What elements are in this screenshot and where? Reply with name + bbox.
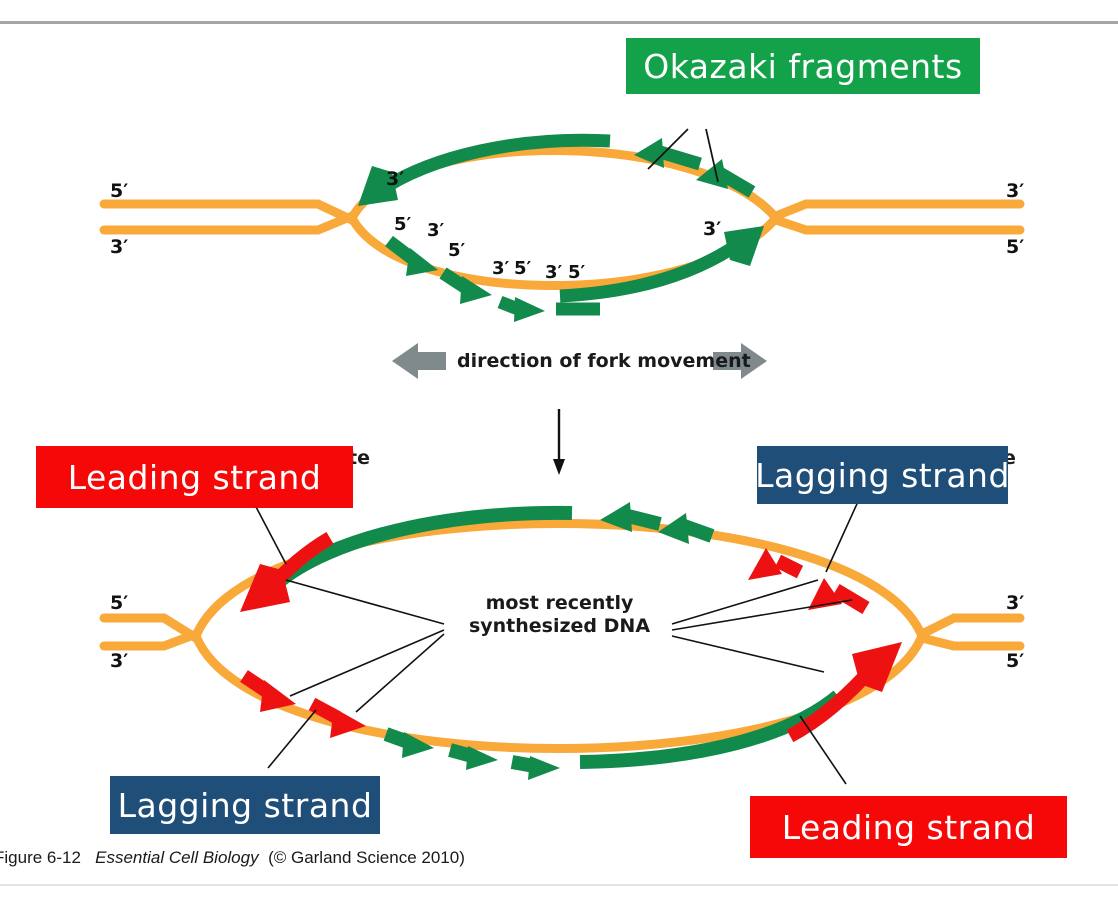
bottom-template-lower-arc bbox=[196, 636, 922, 749]
lagging-bottom-left-leader bbox=[268, 710, 316, 768]
figure-page: Okazaki fragments 5′ 3′ 3′ 5′ 3′ 3′ 5′ 3… bbox=[0, 0, 1118, 906]
figure-caption-title: Essential Cell Biology bbox=[95, 848, 258, 867]
bottom-template-strand-right bbox=[922, 618, 1020, 646]
top-left-fork-5prime: 5′ bbox=[110, 182, 128, 201]
leading-strand-label-top-left: Leading strand bbox=[36, 446, 353, 508]
leading-bottom-right-leader bbox=[800, 716, 846, 784]
top-left-fork-3prime: 3′ bbox=[110, 238, 128, 257]
template-strand-top-left bbox=[104, 204, 352, 230]
top-right-fork-3prime: 3′ bbox=[1006, 182, 1024, 201]
figure-caption-prefix: Figure 6-12 bbox=[0, 848, 81, 867]
bottom-template-strand-left bbox=[104, 618, 196, 646]
bottom-left-fork-5prime: 5′ bbox=[110, 594, 128, 613]
bottom-left-fork-3prime: 3′ bbox=[110, 652, 128, 671]
bottom-okazaki-upper bbox=[600, 502, 712, 544]
okazaki-prime-3: 5′ bbox=[448, 242, 465, 260]
template-strand-top-right bbox=[776, 204, 1020, 230]
diagram-canvas bbox=[0, 24, 1118, 844]
okazaki-prime-1: 5′ bbox=[394, 216, 411, 234]
figure-caption: Figure 6-12 Essential Cell Biology (© Ga… bbox=[0, 848, 465, 868]
lagging-strand-label-top-right: Lagging strand bbox=[757, 446, 1008, 504]
leading-strand-label-bottom-right: Leading strand bbox=[750, 796, 1067, 858]
okazaki-prime-2: 3′ bbox=[427, 222, 444, 240]
most-recently-synthesized-note: most recently synthesized DNA bbox=[452, 592, 667, 638]
bottom-lagging-lower-left bbox=[244, 676, 366, 738]
top-right-fork-5prime: 5′ bbox=[1006, 238, 1024, 257]
okazaki-prime-7: 5′ bbox=[568, 264, 585, 282]
bottom-right-fork-5prime: 5′ bbox=[1006, 652, 1024, 671]
okazaki-prime-5: 5′ bbox=[514, 260, 531, 278]
figure-caption-credit: (© Garland Science 2010) bbox=[268, 848, 465, 867]
bottom-right-fork-3prime: 3′ bbox=[1006, 594, 1024, 613]
bottom-okazaki-lower bbox=[386, 732, 560, 780]
lagging-strand-label-bottom-left: Lagging strand bbox=[110, 776, 380, 834]
okazaki-prime-6: 3′ bbox=[545, 264, 562, 282]
top-replication-bubble bbox=[104, 129, 1020, 322]
okazaki-prime-4: 3′ bbox=[492, 260, 509, 278]
left-arrow-icon bbox=[392, 343, 446, 379]
down-arrow-icon bbox=[553, 409, 565, 475]
bottom-divider bbox=[0, 884, 1118, 886]
top-right-leading-3prime: 3′ bbox=[703, 220, 721, 239]
fork-movement-label: direction of fork movement bbox=[457, 352, 751, 371]
top-leading-strand-3prime: 3′ bbox=[386, 170, 404, 189]
replication-diagram: Okazaki fragments 5′ 3′ 3′ 5′ 3′ 3′ 5′ 3… bbox=[0, 24, 1118, 844]
okazaki-fragments-label: Okazaki fragments bbox=[626, 38, 980, 94]
